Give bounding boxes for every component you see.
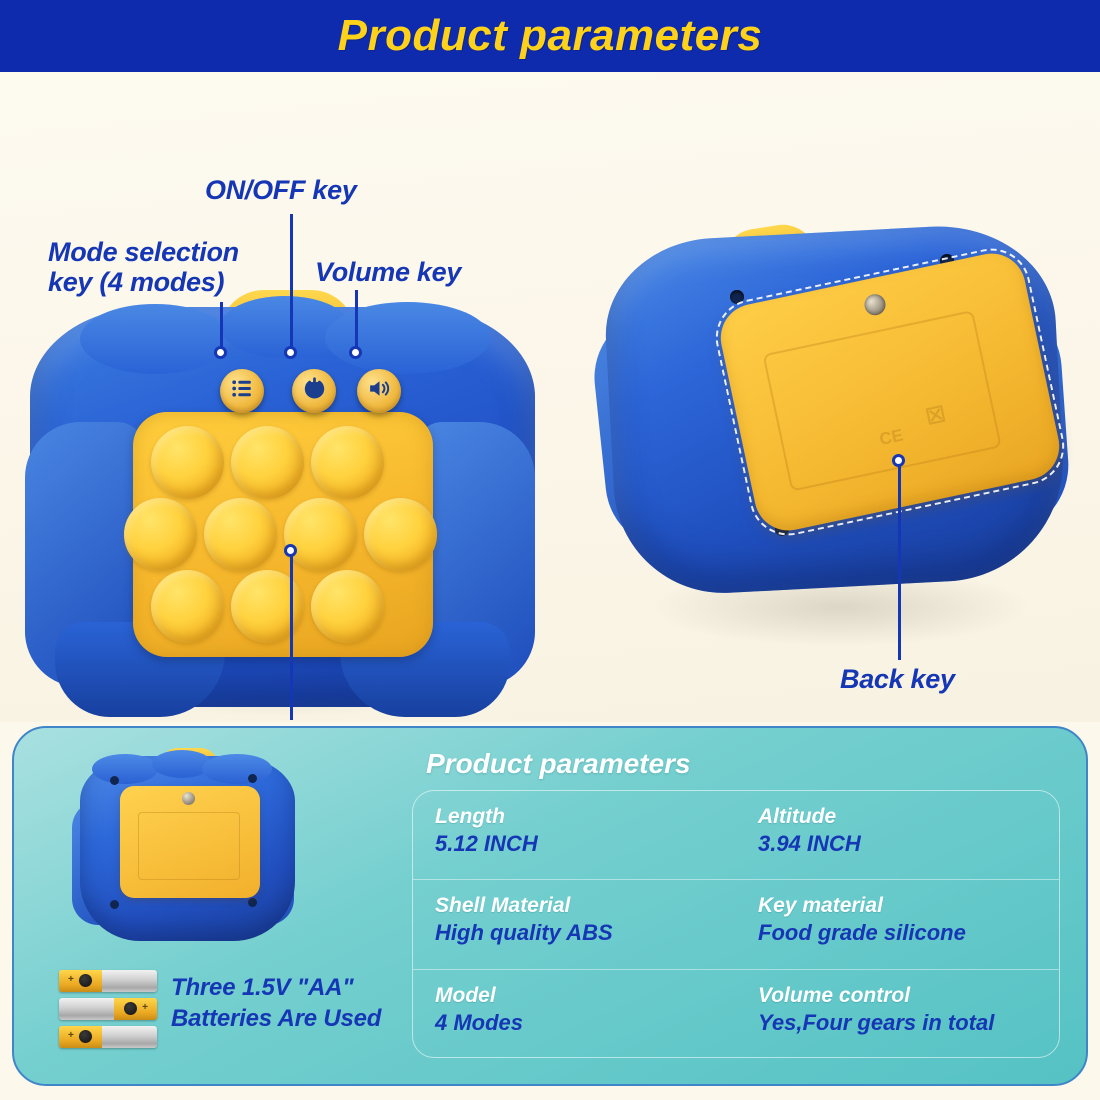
speaker-icon <box>367 376 392 406</box>
leader-line-volume <box>355 290 358 354</box>
screw-hole <box>110 900 119 909</box>
bubble[interactable] <box>311 426 384 499</box>
product-parameters-panel: + + + Three 1.5V "AA" Batteries Are Used… <box>12 726 1088 1086</box>
battery-plus-sign: + <box>68 1030 74 1041</box>
device-edge-bump <box>202 754 272 784</box>
spec-label: Key material <box>758 894 1059 918</box>
bubble[interactable] <box>284 498 357 571</box>
device-edge-bump <box>325 302 490 374</box>
spec-value: 3.94 INCH <box>758 831 1059 857</box>
battery-icon: + <box>59 998 157 1020</box>
bubble[interactable] <box>151 426 224 499</box>
power-icon <box>302 376 327 406</box>
leader-line-onoff <box>290 214 293 354</box>
mode-selection-key-button[interactable] <box>220 369 264 413</box>
leader-line-derat <box>290 550 293 720</box>
popit-bubble-pad[interactable] <box>133 412 433 657</box>
bubble-row <box>151 570 384 643</box>
bubble[interactable] <box>231 426 304 499</box>
battery-requirement-text: Three 1.5V "AA" Batteries Are Used <box>171 972 381 1034</box>
screw-hole <box>248 774 257 783</box>
leader-dot-back <box>892 454 905 467</box>
power-key-button[interactable] <box>292 369 336 413</box>
page-title: Product parameters <box>338 11 763 61</box>
spec-value: Food grade silicone <box>758 920 1059 946</box>
spec-table-row: Length 5.12 INCH Altitude 3.94 INCH <box>413 791 1059 880</box>
battery-logo-icon <box>124 1002 137 1015</box>
spec-value: 5.12 INCH <box>435 831 736 857</box>
bubble-row <box>151 426 384 499</box>
bubble[interactable] <box>124 498 197 571</box>
screw-hole <box>248 898 257 907</box>
spec-value: High quality ABS <box>435 920 736 946</box>
device-back-view: CE ☒ <box>600 222 1070 662</box>
spec-cell-model: Model 4 Modes <box>413 970 736 1059</box>
device-edge-bump <box>80 304 230 374</box>
callout-label-back-key: Back key <box>840 664 955 694</box>
device-back-thumbnail <box>52 748 322 953</box>
spec-value: 4 Modes <box>435 1010 736 1036</box>
screw-hole <box>110 776 119 785</box>
spec-label: Shell Material <box>435 894 736 918</box>
header-banner: Product parameters <box>0 0 1100 72</box>
screw-icon <box>863 292 888 317</box>
battery-cover-inset <box>762 310 1001 492</box>
screw-hole <box>730 290 744 304</box>
spec-cell-shell-material: Shell Material High quality ABS <box>413 880 736 968</box>
battery-icon: + <box>59 1026 157 1048</box>
spec-cell-volume-control: Volume control Yes,Four gears in total <box>736 970 1059 1059</box>
leader-dot-mode <box>214 346 227 359</box>
leader-dot-derat <box>284 544 297 557</box>
spec-label: Length <box>435 805 736 829</box>
battery-plus-sign: + <box>68 974 74 985</box>
leader-dot-onoff <box>284 346 297 359</box>
battery-cover <box>120 786 260 898</box>
spec-table: Length 5.12 INCH Altitude 3.94 INCH Shel… <box>412 790 1060 1058</box>
battery-logo-icon <box>79 974 92 987</box>
bubble[interactable] <box>151 570 224 643</box>
spec-cell-altitude: Altitude 3.94 INCH <box>736 791 1059 879</box>
bubble[interactable] <box>311 570 384 643</box>
battery-logo-icon <box>79 1030 92 1043</box>
battery-plus-sign: + <box>142 1002 148 1013</box>
battery-cover-inset <box>138 812 240 880</box>
spec-label: Model <box>435 984 736 1008</box>
spec-panel-title: Product parameters <box>426 748 691 780</box>
product-photo-stage: CE ☒ Mode selection key (4 modes) ON/OFF… <box>0 72 1100 722</box>
battery-icon: + <box>59 970 157 992</box>
spec-label: Altitude <box>758 805 1059 829</box>
battery-requirement-block: + + + Three 1.5V "AA" Batteries Are Used <box>59 968 399 1068</box>
bubble-row <box>124 498 437 571</box>
leader-line-back <box>898 460 901 660</box>
spec-cell-length: Length 5.12 INCH <box>413 791 736 879</box>
screw-icon <box>182 792 195 805</box>
leader-dot-volume <box>349 346 362 359</box>
spec-cell-key-material: Key material Food grade silicone <box>736 880 1059 968</box>
list-icon <box>230 376 255 406</box>
callout-label-volume: Volume key <box>315 257 461 287</box>
callout-label-on-off: ON/OFF key <box>205 175 357 205</box>
callout-label-mode-selection: Mode selection key (4 modes) <box>48 237 239 297</box>
volume-key-button[interactable] <box>357 369 401 413</box>
spec-value: Yes,Four gears in total <box>758 1010 1059 1036</box>
spec-table-row: Model 4 Modes Volume control Yes,Four ge… <box>413 970 1059 1059</box>
spec-table-row: Shell Material High quality ABS Key mate… <box>413 880 1059 969</box>
device-edge-bump <box>92 754 158 784</box>
spec-label: Volume control <box>758 984 1059 1008</box>
bubble[interactable] <box>204 498 277 571</box>
bubble[interactable] <box>231 570 304 643</box>
battery-icons: + + + <box>59 970 159 1054</box>
bubble[interactable] <box>364 498 437 571</box>
device-front-view <box>25 252 540 732</box>
